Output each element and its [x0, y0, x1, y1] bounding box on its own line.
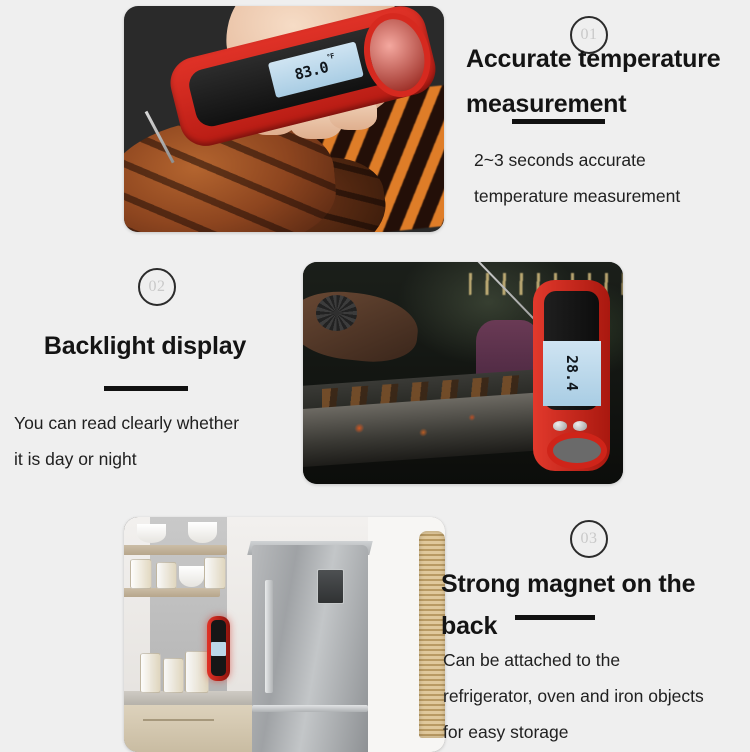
- section-headline-03-line1: Strong magnet on the back: [441, 563, 750, 647]
- bowl-3: [188, 522, 217, 543]
- lcd-display: 28.4: [543, 341, 601, 406]
- pantry-jar-1: [140, 653, 161, 693]
- section-divider-02: [104, 386, 188, 391]
- fridge-handle: [265, 580, 273, 693]
- infographic-page: 83.0 °F 01 Accurate temperature measurem…: [0, 0, 750, 752]
- beaded-bracelet: [316, 295, 358, 331]
- lcd-unit: °F: [326, 52, 335, 62]
- jar-2: [156, 562, 177, 590]
- section-body-01-line1: 2~3 seconds accurate: [474, 142, 750, 178]
- device-button-1: [553, 421, 567, 431]
- hanging-ring: [547, 432, 607, 469]
- section-divider-03: [515, 615, 595, 620]
- lcd-value: 28.4: [563, 355, 581, 391]
- thermometer-device: 28.4: [533, 280, 610, 471]
- base-cabinet: [124, 705, 252, 752]
- section-headline-01-line1: Accurate temperature: [466, 38, 750, 80]
- bowl-2: [137, 524, 166, 543]
- section-divider-01: [512, 119, 605, 124]
- feature-image-magnet-on-fridge: [124, 517, 445, 752]
- badge-label: 02: [149, 278, 166, 296]
- lcd-display: [211, 642, 226, 656]
- section-headline-01-line2: measurement: [466, 83, 750, 125]
- device-button-2: [573, 421, 587, 431]
- feature-image-accurate-temperature: 83.0 °F: [124, 6, 444, 232]
- cabinet-handle: [143, 719, 214, 721]
- fridge-control-panel: [317, 569, 345, 604]
- section-body-02-line2: it is day or night: [14, 441, 290, 477]
- section-body-03-line2: refrigerator, oven and iron objects: [443, 678, 750, 714]
- section-badge-02: 02: [138, 268, 176, 306]
- lcd-display: 83.0 °F: [267, 41, 363, 98]
- countertop: [124, 691, 252, 705]
- pantry-jar-2: [163, 658, 184, 693]
- section-body-03-line3: for easy storage: [443, 714, 750, 750]
- fridge-drawer-handle: [252, 705, 368, 712]
- upper-shelf: [124, 545, 227, 554]
- section-body-02-line1: You can read clearly whether: [14, 405, 290, 441]
- lcd-value: 83.0: [293, 57, 330, 83]
- section-badge-03: 03: [570, 520, 608, 558]
- feature-image-backlight-display: 28.4: [303, 262, 623, 484]
- badge-label: 03: [581, 530, 598, 548]
- section-body-03-line1: Can be attached to the: [443, 642, 750, 678]
- thermometer-device: [207, 616, 229, 682]
- jar-1: [130, 559, 151, 589]
- section-headline-02-line1: Backlight display: [0, 325, 290, 367]
- section-body-01-line2: temperature measurement: [474, 178, 750, 214]
- jar-3: [204, 557, 225, 590]
- pantry-jar-3: [185, 651, 209, 693]
